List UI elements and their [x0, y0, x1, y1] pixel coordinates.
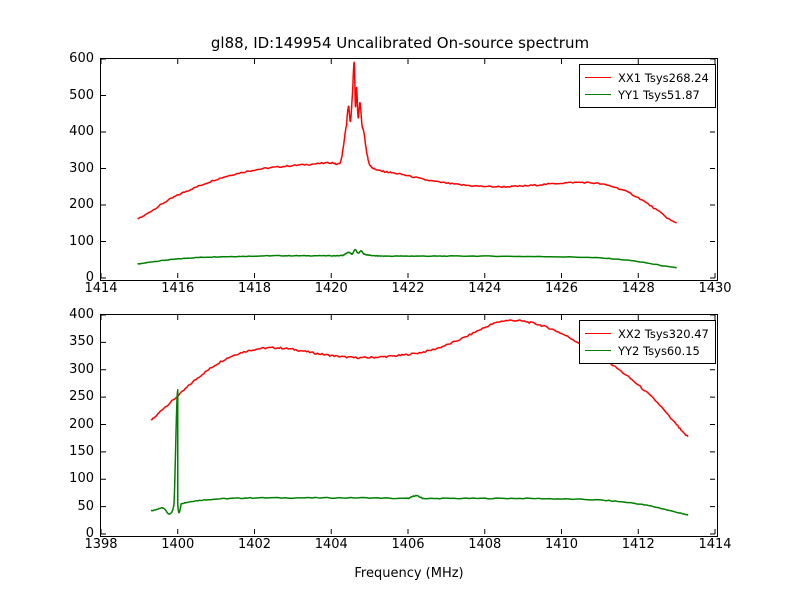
y-tick-label: 0 — [50, 270, 94, 285]
legend-swatch-line — [585, 350, 611, 351]
y-tick-label: 150 — [50, 444, 94, 459]
legend-swatch-line — [585, 77, 611, 78]
page-title: gl88, ID:149954 Uncalibrated On-source s… — [0, 34, 800, 52]
y-tick-label: 400 — [50, 124, 94, 139]
legend-label: XX1 Tsys268.24 — [618, 71, 709, 85]
x-tick-label: 1400 — [148, 537, 208, 552]
spectrum-figure: gl88, ID:149954 Uncalibrated On-source s… — [0, 0, 800, 600]
x-tick-label: 1420 — [301, 281, 361, 296]
x-tick-label: 1426 — [532, 281, 592, 296]
x-tick-label: 1408 — [455, 537, 515, 552]
legend-item: XX1 Tsys268.24 — [585, 69, 709, 86]
y-tick-label: 500 — [50, 88, 94, 103]
y-tick-label: 600 — [50, 51, 94, 66]
y-tick-label: 200 — [50, 417, 94, 432]
x-tick-label: 1424 — [455, 281, 515, 296]
legend-item: YY1 Tsys51.87 — [585, 86, 709, 103]
legend-swatch-line — [585, 333, 611, 334]
y-tick-label: 400 — [50, 307, 94, 322]
legend-top: XX1 Tsys268.24YY1 Tsys51.87 — [579, 64, 716, 108]
y-tick-label: 100 — [50, 471, 94, 486]
x-tick-label: 1406 — [378, 537, 438, 552]
legend-swatch-line — [585, 94, 611, 95]
x-tick-label: 1416 — [148, 281, 208, 296]
data-series-yy — [151, 390, 688, 516]
x-tick-label: 1422 — [378, 281, 438, 296]
legend-label: YY1 Tsys51.87 — [618, 88, 700, 102]
y-tick-label: 100 — [50, 234, 94, 249]
y-tick-label: 50 — [50, 499, 94, 514]
y-tick-label: 350 — [50, 334, 94, 349]
x-tick-label: 1412 — [608, 537, 668, 552]
y-tick-label: 300 — [50, 362, 94, 377]
y-tick-label: 200 — [50, 197, 94, 212]
y-tick-label: 0 — [50, 526, 94, 541]
x-tick-label: 1410 — [532, 537, 592, 552]
x-axis-label: Frequency (MHz) — [100, 566, 718, 581]
x-tick-label: 1402 — [225, 537, 285, 552]
x-tick-label: 1418 — [225, 281, 285, 296]
data-series-yy — [137, 250, 676, 268]
x-tick-label: 1428 — [608, 281, 668, 296]
legend-label: XX2 Tsys320.47 — [618, 327, 709, 341]
y-axis-label: Uncalibrated amplitude — [0, 0, 3, 70]
legend-item: XX2 Tsys320.47 — [585, 325, 709, 342]
x-tick-label: 1414 — [685, 537, 745, 552]
legend-bottom: XX2 Tsys320.47YY2 Tsys60.15 — [579, 320, 716, 364]
y-tick-label: 250 — [50, 389, 94, 404]
x-tick-label: 1404 — [301, 537, 361, 552]
y-tick-label: 300 — [50, 161, 94, 176]
legend-label: YY2 Tsys60.15 — [618, 344, 700, 358]
legend-item: YY2 Tsys60.15 — [585, 342, 709, 359]
x-tick-label: 1430 — [685, 281, 745, 296]
